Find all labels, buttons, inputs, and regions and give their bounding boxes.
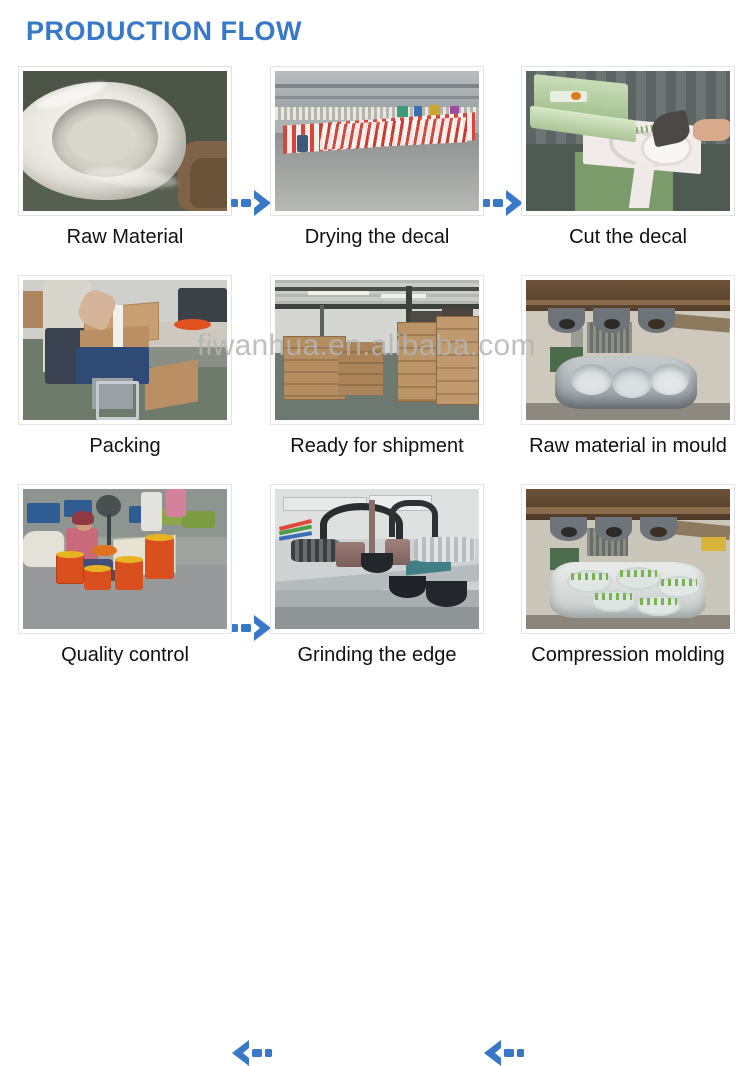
photo-frame <box>521 275 735 425</box>
flow-row-2: Packing <box>0 275 750 484</box>
photo-ready-shipment <box>275 280 479 420</box>
flow-step-grinding-the-edge[interactable]: Grinding the edge <box>270 484 484 667</box>
photo-frame <box>270 66 484 216</box>
photo-frame <box>18 484 232 634</box>
photo-frame <box>18 275 232 425</box>
flow-grid: Raw Material <box>0 66 750 693</box>
step-caption: Raw material in mould <box>521 434 735 458</box>
flow-step-packing[interactable]: Packing <box>18 275 232 458</box>
photo-packing <box>23 280 227 420</box>
step-caption: Cut the decal <box>521 225 735 249</box>
flow-step-cut-the-decal[interactable]: Cut the decal <box>521 66 735 249</box>
photo-cut-decal <box>526 71 730 211</box>
step-caption: Ready for shipment <box>270 434 484 458</box>
photo-frame <box>521 66 735 216</box>
flow-step-raw-material[interactable]: Raw Material <box>18 66 232 249</box>
photo-raw-material-mould <box>526 280 730 420</box>
page-title: PRODUCTION FLOW <box>26 16 302 47</box>
flow-step-quality-control[interactable]: Quality control <box>18 484 232 667</box>
flow-step-raw-material-in-mould[interactable]: Raw material in mould <box>521 275 735 458</box>
photo-raw-material <box>23 71 227 211</box>
step-caption: Compression molding <box>521 643 735 667</box>
photo-quality-control <box>23 489 227 629</box>
flow-row-3: Quality control <box>0 484 750 693</box>
photo-frame <box>270 275 484 425</box>
photo-frame <box>521 484 735 634</box>
step-caption: Packing <box>18 434 232 458</box>
photo-grinding-edge <box>275 489 479 629</box>
photo-frame <box>270 484 484 634</box>
arrow-left-icon <box>484 1040 524 1066</box>
arrow-right-icon <box>231 190 271 216</box>
step-caption: Quality control <box>18 643 232 667</box>
step-caption: Drying the decal <box>270 225 484 249</box>
photo-drying-decal <box>275 71 479 211</box>
flow-step-compression-molding[interactable]: Compression molding <box>521 484 735 667</box>
flow-step-ready-for-shipment[interactable]: Ready for shipment <box>270 275 484 458</box>
photo-frame <box>18 66 232 216</box>
photo-compression-molding <box>526 489 730 629</box>
step-caption: Raw Material <box>18 225 232 249</box>
flow-step-drying-the-decal[interactable]: Drying the decal <box>270 66 484 249</box>
arrow-left-icon <box>232 1040 272 1066</box>
production-flow-infographic: PRODUCTION FLOW Raw Material <box>0 0 750 696</box>
arrow-right-icon <box>483 190 523 216</box>
flow-row-1: Raw Material <box>0 66 750 275</box>
step-caption: Grinding the edge <box>270 643 484 667</box>
